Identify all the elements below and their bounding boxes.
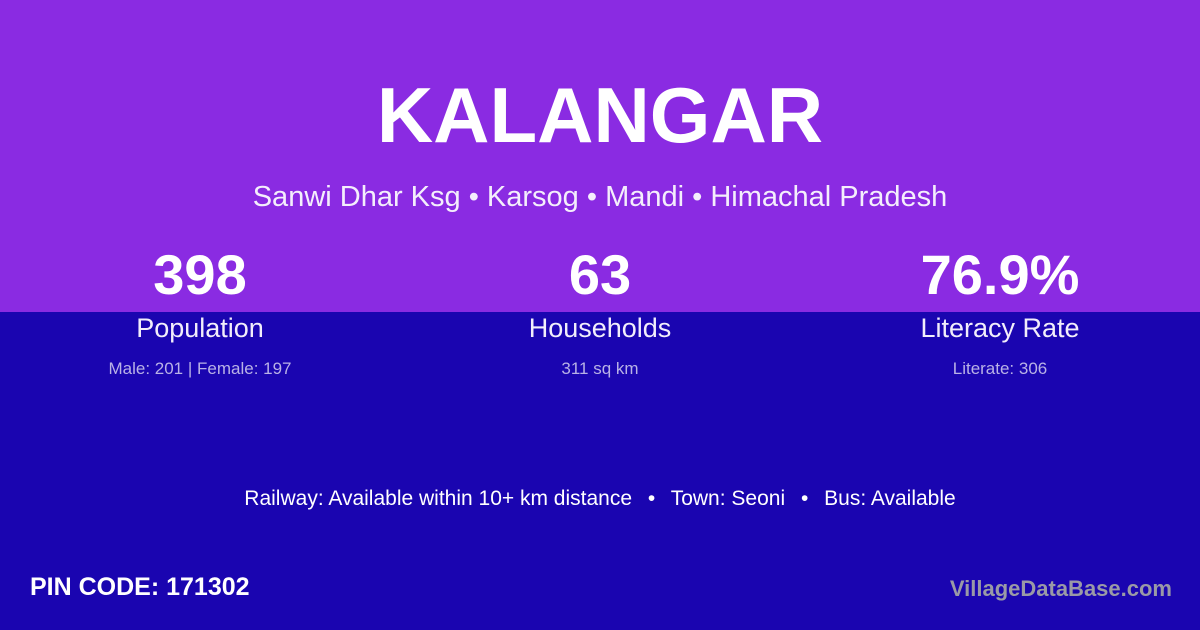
stat-literacy-rate: 76.9% Literacy Rate Literate: 306 — [800, 244, 1200, 379]
stat-households: 63 Households 311 sq km — [400, 244, 800, 379]
facility-bus: Bus: Available — [824, 487, 956, 510]
facility-town: Town: Seoni — [671, 487, 785, 510]
statistics-row: 398 Population Male: 201 | Female: 197 6… — [0, 244, 1200, 379]
village-location-breadcrumb: Sanwi Dhar Ksg • Karsog • Mandi • Himach… — [0, 182, 1200, 214]
pin-code: PIN CODE: 171302 — [30, 572, 250, 602]
facility-separator-2: • — [791, 487, 818, 510]
stat-literacy-rate-value: 76.9% — [800, 244, 1200, 312]
stat-population: 398 Population Male: 201 | Female: 197 — [0, 244, 400, 379]
facility-railway: Railway: Available within 10+ km distanc… — [244, 487, 632, 510]
facility-separator-1: • — [638, 487, 665, 510]
stat-households-label: Households — [400, 313, 800, 344]
facilities-line: Railway: Available within 10+ km distanc… — [0, 486, 1200, 511]
card-content: KALANGAR Sanwi Dhar Ksg • Karsog • Mandi… — [0, 0, 1200, 630]
stat-households-value: 63 — [400, 244, 800, 312]
card-footer: PIN CODE: 171302 VillageDataBase.com — [0, 572, 1200, 612]
stat-literacy-rate-label: Literacy Rate — [800, 313, 1200, 344]
village-info-card: KALANGAR Sanwi Dhar Ksg • Karsog • Mandi… — [0, 0, 1200, 630]
stat-population-label: Population — [0, 313, 400, 344]
village-title: KALANGAR — [0, 76, 1200, 154]
stat-households-area: 311 sq km — [400, 359, 800, 379]
stat-literacy-literate-count: Literate: 306 — [800, 359, 1200, 379]
site-watermark: VillageDataBase.com — [950, 576, 1172, 602]
stat-population-breakdown: Male: 201 | Female: 197 — [0, 359, 400, 379]
stat-population-value: 398 — [0, 244, 400, 312]
